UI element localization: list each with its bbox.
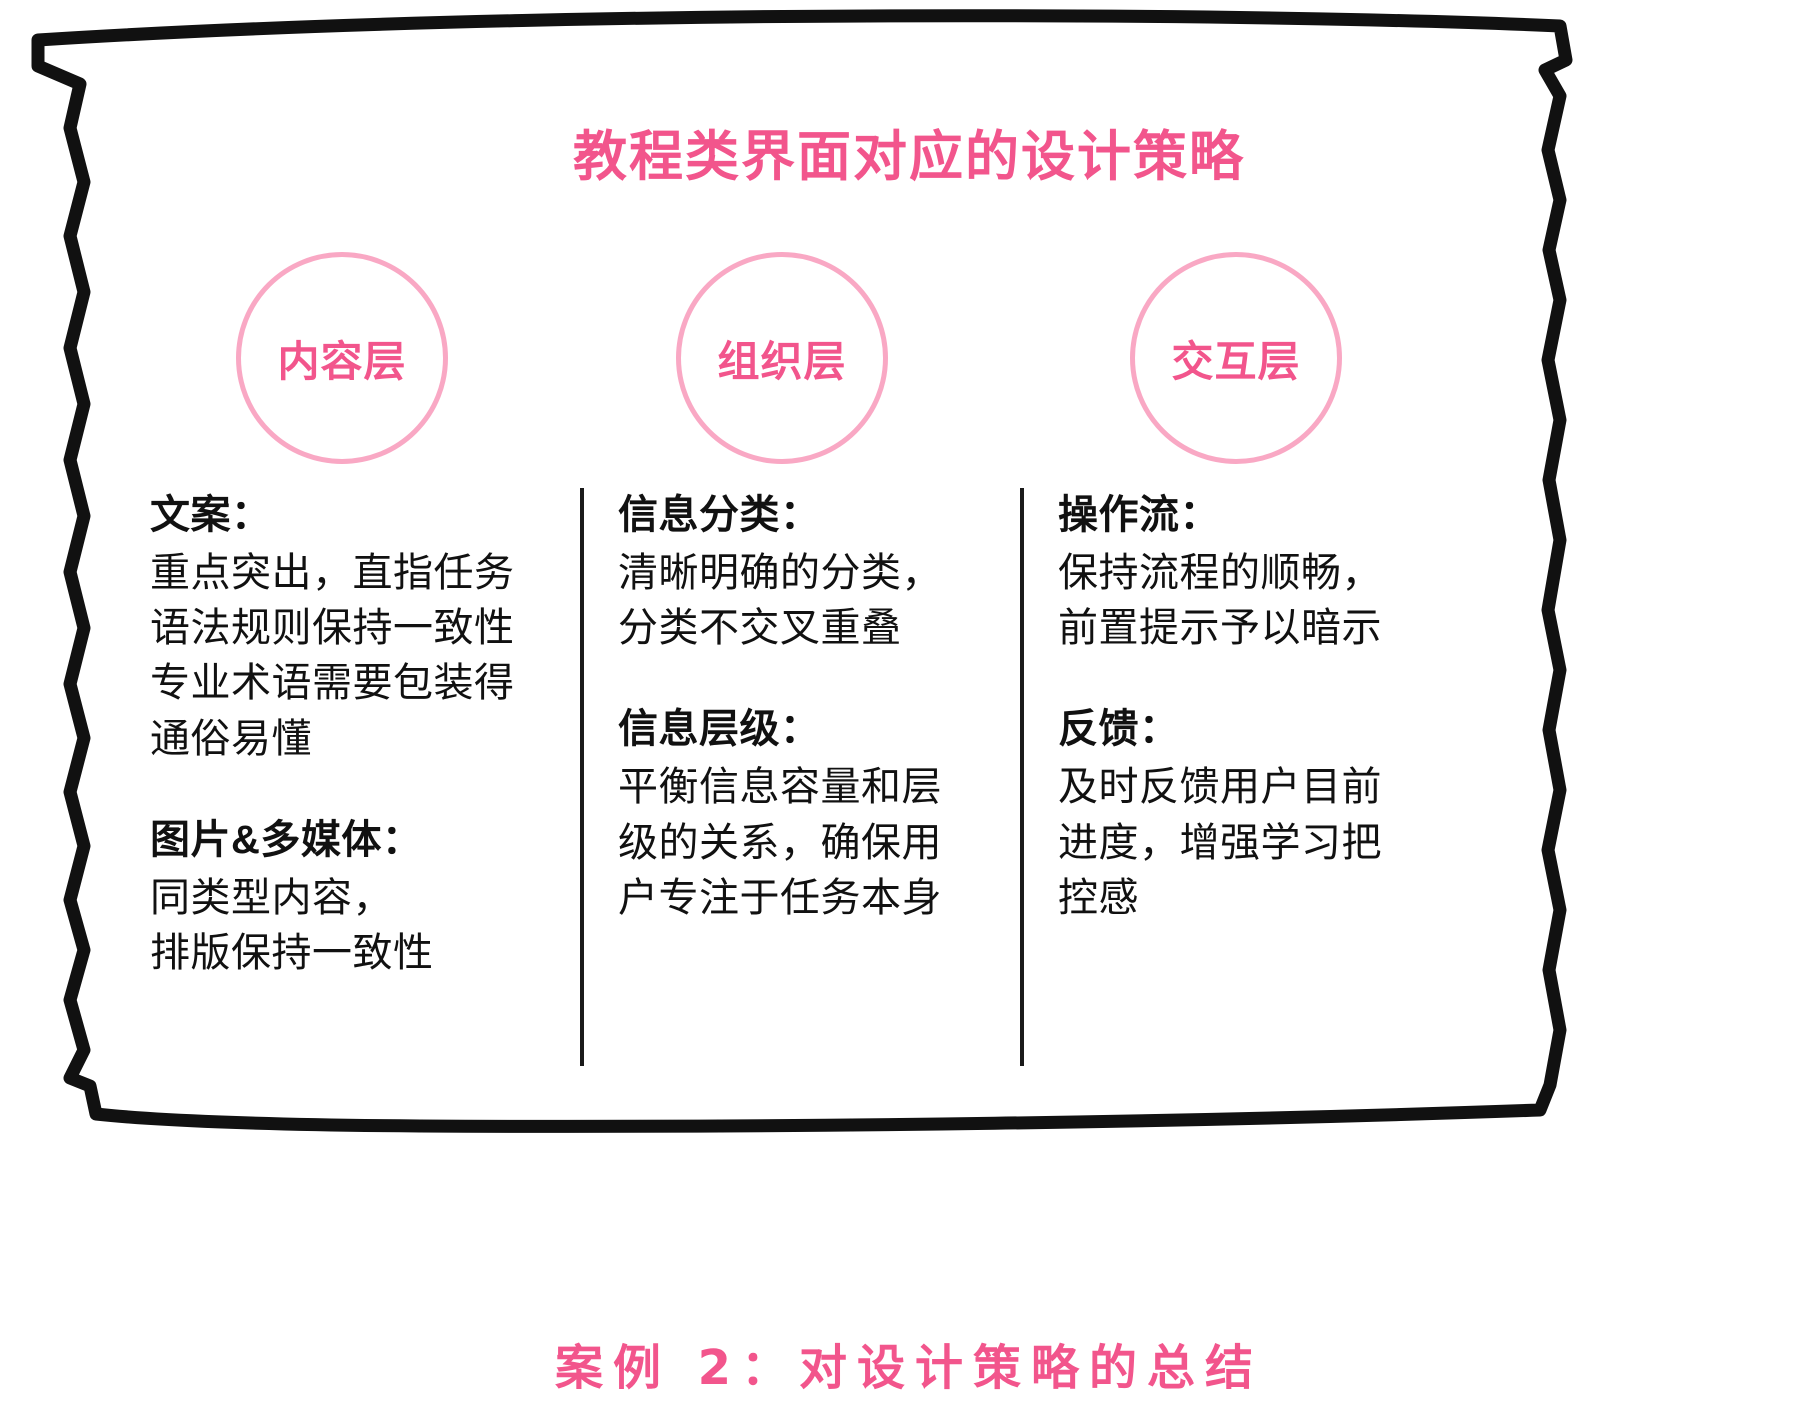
slide-canvas: 教程类界面对应的设计策略 内容层 组织层 交互层 文案： 重点突出，直指任务 语… <box>0 0 1818 1426</box>
section-information-classification: 信息分类： 清晰明确的分类， 分类不交叉重叠 <box>618 488 996 656</box>
section-operation-flow: 操作流： 保持流程的顺畅， 前置提示予以暗示 <box>1058 488 1436 656</box>
section-line: 平衡信息容量和层 <box>618 760 996 815</box>
section-copywriting: 文案： 重点突出，直指任务 语法规则保持一致性 专业术语需要包装得 通俗易懂 <box>150 488 556 767</box>
column-content-layer: 文案： 重点突出，直指任务 语法规则保持一致性 专业术语需要包装得 通俗易懂 图… <box>150 488 580 1088</box>
layer-circle-interaction: 交互层 <box>1130 252 1342 464</box>
column-interaction-layer: 操作流： 保持流程的顺畅， 前置提示予以暗示 反馈： 及时反馈用户目前 进度，增… <box>1020 488 1460 1088</box>
section-image-multimedia: 图片&多媒体： 同类型内容， 排版保持一致性 <box>150 813 556 981</box>
section-line: 级的关系，确保用 <box>618 816 996 871</box>
section-heading: 信息分类： <box>618 488 996 542</box>
section-line: 语法规则保持一致性 <box>150 601 556 656</box>
section-line: 重点突出，直指任务 <box>150 546 556 601</box>
section-line: 及时反馈用户目前 <box>1058 760 1436 815</box>
section-line: 户专注于任务本身 <box>618 871 996 926</box>
column-organization-layer: 信息分类： 清晰明确的分类， 分类不交叉重叠 信息层级： 平衡信息容量和层 级的… <box>580 488 1020 1088</box>
layer-circle-label: 交互层 <box>1171 328 1300 389</box>
section-line: 保持流程的顺畅， <box>1058 546 1436 601</box>
page-title: 教程类界面对应的设计策略 <box>0 128 1818 187</box>
strategy-columns: 文案： 重点突出，直指任务 语法规则保持一致性 专业术语需要包装得 通俗易懂 图… <box>150 488 1490 1088</box>
section-line: 专业术语需要包装得 <box>150 656 556 711</box>
layer-circle-label: 组织层 <box>717 328 846 389</box>
section-heading: 反馈： <box>1058 702 1436 756</box>
section-information-hierarchy: 信息层级： 平衡信息容量和层 级的关系，确保用 户专注于任务本身 <box>618 702 996 926</box>
layer-circle-label: 内容层 <box>277 328 406 389</box>
section-heading: 信息层级： <box>618 702 996 756</box>
section-line: 通俗易懂 <box>150 712 556 767</box>
section-heading: 文案： <box>150 488 556 542</box>
section-line: 前置提示予以暗示 <box>1058 601 1436 656</box>
layer-circle-organization: 组织层 <box>676 252 888 464</box>
section-line: 排版保持一致性 <box>150 926 556 981</box>
footer-caption: 案例 2：对设计策略的总结 <box>0 1328 1818 1398</box>
section-line: 清晰明确的分类， <box>618 546 996 601</box>
section-heading: 图片&多媒体： <box>150 813 556 867</box>
section-heading: 操作流： <box>1058 488 1436 542</box>
section-line: 分类不交叉重叠 <box>618 601 996 656</box>
section-line: 同类型内容， <box>150 871 556 926</box>
section-line: 控感 <box>1058 871 1436 926</box>
layer-circle-content: 内容层 <box>236 252 448 464</box>
section-feedback: 反馈： 及时反馈用户目前 进度，增强学习把 控感 <box>1058 702 1436 926</box>
section-line: 进度，增强学习把 <box>1058 816 1436 871</box>
